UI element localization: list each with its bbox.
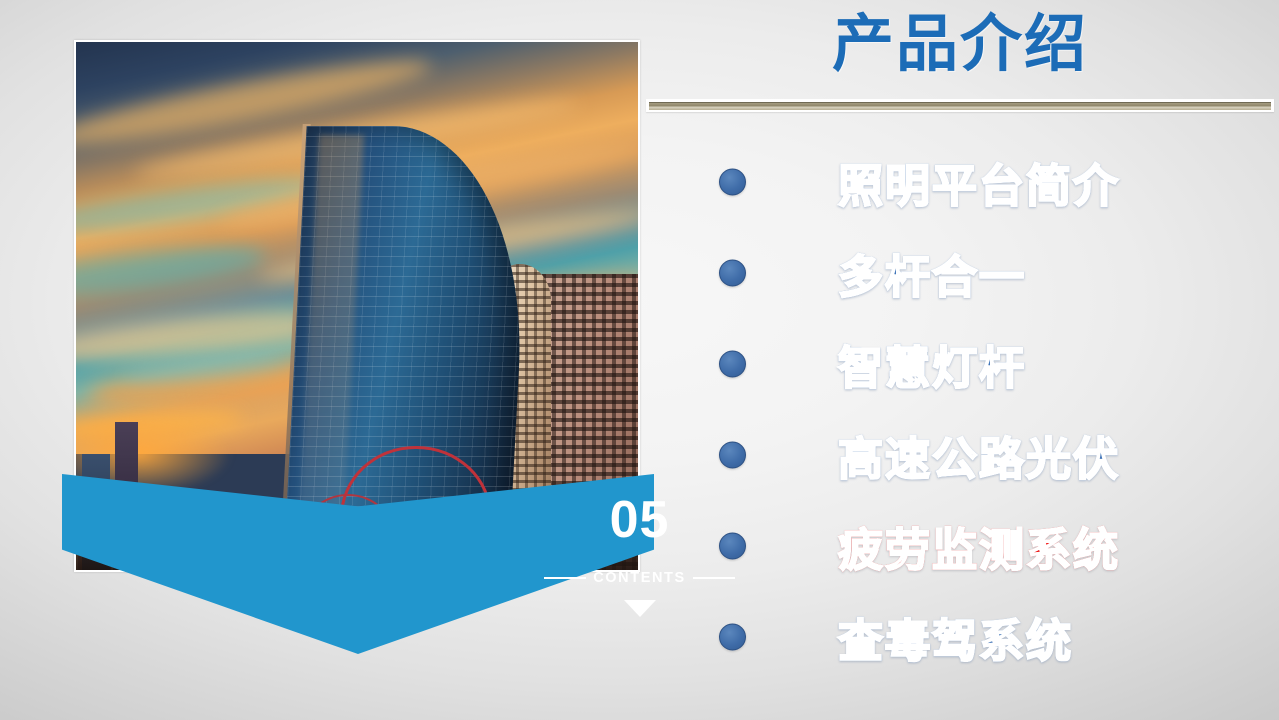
- list-item-label: 查毒驾系统: [838, 604, 1073, 669]
- bullet-dot-icon: [719, 532, 746, 559]
- agenda-list: 照明平台简介 多杆合一 智慧灯杆 高速公路光伏 疲劳监测系统 查毒驾系统: [650, 136, 1270, 682]
- list-item-label: 智慧灯杆: [838, 331, 1026, 396]
- left-rule: [544, 577, 586, 579]
- page-title: 产品介绍: [650, 6, 1270, 84]
- list-item-label-highlighted: 疲劳监测系统: [838, 513, 1120, 578]
- list-item[interactable]: 多杆合一: [650, 227, 1270, 318]
- bullet-dot-icon: [719, 259, 746, 286]
- bullet-dot-icon: [719, 441, 746, 468]
- list-item-label: 高速公路光伏: [838, 422, 1120, 487]
- bullet-dot-icon: [719, 623, 746, 650]
- list-item-label: 照明平台简介: [838, 149, 1120, 214]
- bullet-dot-icon: [719, 350, 746, 377]
- presentation-slide: 05 CONTENTS 产品介绍 照明平台简介 多杆合一 智慧灯杆 高速公路光伏: [0, 0, 1279, 720]
- list-item[interactable]: 高速公路光伏: [650, 409, 1270, 500]
- list-item-label: 多杆合一: [838, 240, 1026, 305]
- list-item[interactable]: 照明平台简介: [650, 136, 1270, 227]
- divider-bar: [649, 102, 1271, 110]
- title-divider: [646, 99, 1274, 112]
- list-item[interactable]: 查毒驾系统: [650, 591, 1270, 682]
- list-item[interactable]: 智慧灯杆: [650, 318, 1270, 409]
- list-item-active[interactable]: 疲劳监测系统: [650, 500, 1270, 591]
- bullet-dot-icon: [719, 168, 746, 195]
